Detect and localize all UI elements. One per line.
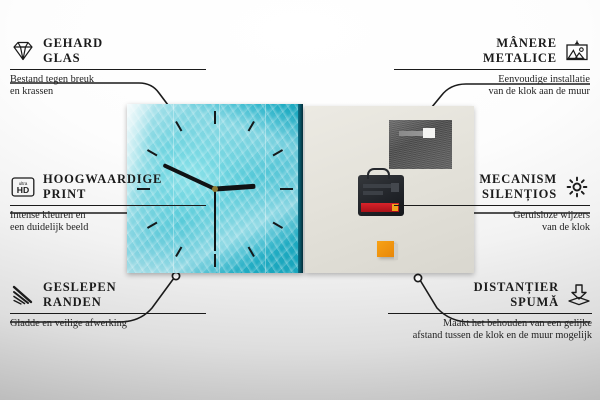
feature-hoogwaardige-print: ultra HD HOOGWAARDIGE PRINT Intense kleu… — [10, 172, 206, 235]
feature-divider — [10, 313, 206, 314]
infographic-canvas: GEHARD GLAS Bestand tegen breuk en krass… — [0, 0, 600, 400]
glass-edge — [298, 104, 303, 273]
feature-title-line: DISTANȚIER — [474, 280, 559, 295]
diamond-icon — [10, 39, 36, 63]
mechanism-loop — [367, 168, 390, 179]
feature-title-line: PRINT — [43, 187, 162, 202]
feature-title-line: HOOGWAARDIGE — [43, 172, 162, 187]
feature-divider — [10, 205, 206, 206]
feature-geslepen-randen: GESLEPEN RANDEN Gladde en veilige afwerk… — [10, 280, 206, 330]
feature-description: Eenvoudige installatie van de klok aan d… — [394, 74, 590, 99]
mechanism-detail — [363, 184, 391, 188]
beveled-edges-icon — [10, 283, 36, 307]
picture-frame-icon — [564, 39, 590, 63]
feature-divider — [394, 205, 590, 206]
feature-divider — [394, 69, 590, 70]
feature-manere-metalice: MÂNERE METALICE Eenvoudige installatie v… — [394, 36, 590, 99]
feature-title-line: SILENȚIOS — [482, 187, 557, 202]
gear-icon — [564, 175, 590, 199]
feature-title-line: GESLEPEN — [43, 280, 117, 295]
feature-description: Gladde en veilige afwerking — [10, 318, 206, 330]
feature-gehard-glas: GEHARD GLAS Bestand tegen breuk en krass… — [10, 36, 206, 99]
clock-center-cap — [212, 186, 218, 192]
feature-distantier-spuma: DISTANȚIER SPUMĂ Maakt het behouden van … — [388, 280, 592, 343]
feature-description: Bestand tegen breuk en krassen — [10, 74, 206, 99]
arrow-down-pad-icon — [566, 283, 592, 307]
feature-description: Geruisloze wijzers van de klok — [394, 210, 590, 235]
feature-mecanism-silentios: MECANISM SILENȚIOS Geruisloze wijzers va… — [394, 172, 590, 235]
feature-title-line: METALICE — [483, 51, 557, 66]
mechanism-detail — [363, 191, 383, 195]
clock-second-hand — [214, 189, 216, 251]
feature-description: Maakt het behouden van een gelijke afsta… — [388, 318, 592, 343]
feature-divider — [388, 313, 592, 314]
feature-title-line: MÂNERE — [496, 36, 557, 51]
feature-title-line: MECANISM — [479, 172, 557, 187]
feature-title-line: RANDEN — [43, 295, 117, 310]
feature-title-line: SPUMĂ — [510, 295, 559, 310]
hanger-hole — [423, 128, 435, 138]
feature-description: Intense kleuren en een duidelijk beeld — [10, 210, 206, 235]
feature-divider — [10, 69, 206, 70]
feature-title-line: GLAS — [43, 51, 103, 66]
metal-hanger — [389, 120, 452, 169]
ultra-hd-icon: ultra HD — [10, 175, 36, 199]
svg-text:HD: HD — [17, 185, 29, 195]
foam-spacer — [377, 241, 394, 257]
feature-title-line: GEHARD — [43, 36, 103, 51]
